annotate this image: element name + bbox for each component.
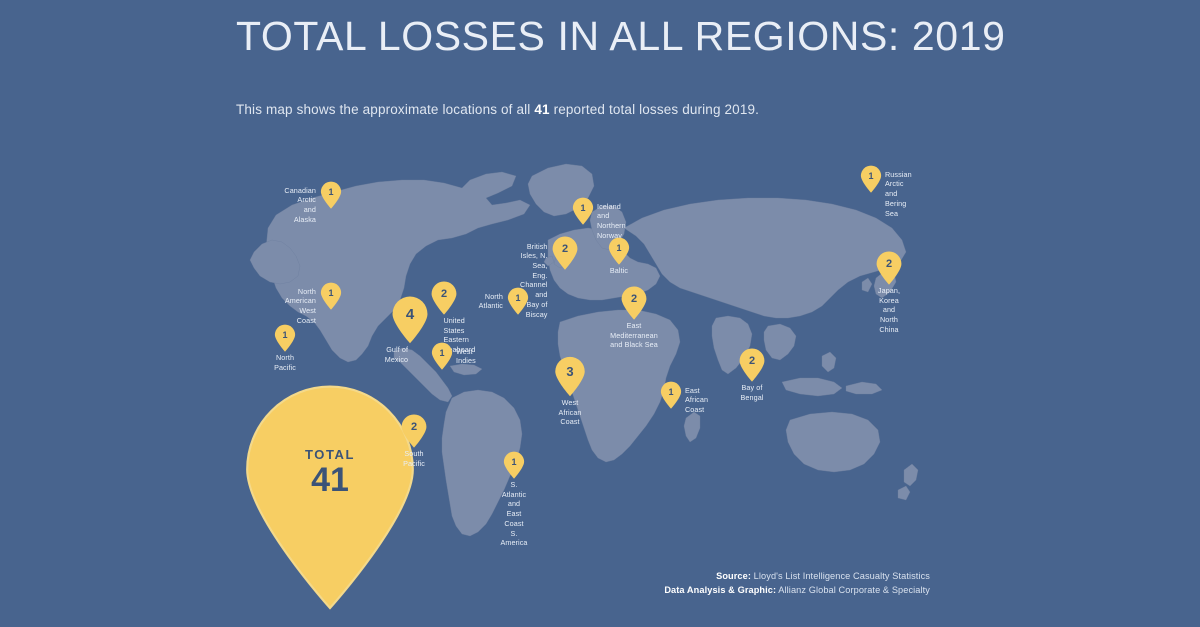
marker-canadian-arctic-and-alaska[interactable]: 1Canadian Arctic and Alaska <box>320 182 342 209</box>
page-title: Total Losses In All Regions: 2019 <box>236 14 996 58</box>
marker-label: Bay of Bengal <box>741 383 764 402</box>
marker-north-american-west-coast[interactable]: 1North American West Coast <box>320 283 342 310</box>
page-subtitle: This map shows the approximate locations… <box>236 102 996 117</box>
header: Total Losses In All Regions: 2019 This m… <box>236 14 996 117</box>
marker-gulf-of-mexico[interactable]: 4Gulf of Mexico <box>391 297 429 344</box>
marker-east-mediterranean-and-black-sea[interactable]: 2East Mediterranean and Black Sea <box>621 287 648 320</box>
subtitle-total-count: 41 <box>534 102 549 117</box>
pin-shape: 2 <box>431 282 458 315</box>
infographic-canvas: Total Losses In All Regions: 2019 This m… <box>0 0 1200 627</box>
pin-shape: 1 <box>503 452 525 479</box>
marker-british-isles-north-sea[interactable]: 2British Isles, N. Sea, Eng. Channel and… <box>552 237 579 270</box>
total-pin-shape <box>240 390 420 610</box>
pin-shape: 2 <box>552 237 579 270</box>
marker-label: East African Coast <box>685 386 708 415</box>
source-attribution: Source: Lloyd's List Intelligence Casual… <box>664 569 930 598</box>
marker-baltic[interactable]: 1Baltic <box>608 238 630 265</box>
pin-shape: 2 <box>621 287 648 320</box>
marker-west-indies[interactable]: 1West Indies <box>431 343 453 370</box>
pin-shape: 2 <box>401 415 428 448</box>
pin-shape: 2 <box>876 252 903 285</box>
marker-label: Gulf of Mexico <box>385 345 408 364</box>
subtitle-text-after: reported total losses during 2019. <box>550 102 759 117</box>
marker-label: Canadian Arctic and Alaska <box>284 186 316 225</box>
analysis-label: Data Analysis & Graphic: <box>664 585 776 595</box>
pin-shape: 1 <box>608 238 630 265</box>
source-label: Source: <box>716 571 751 581</box>
pin-shape: 1 <box>320 283 342 310</box>
pin-shape: 4 <box>391 297 429 344</box>
pin-shape: 1 <box>860 166 882 193</box>
pin-shape: 1 <box>572 198 594 225</box>
analysis-text: Allianz Global Corporate & Specialty <box>776 585 930 595</box>
analysis-line: Data Analysis & Graphic: Allianz Global … <box>664 583 930 597</box>
marker-label: British Isles, N. Sea, Eng. Channel and … <box>520 242 547 320</box>
marker-label: Russian Arctic and Bering Sea <box>885 170 912 219</box>
marker-label: S. Atlantic and East Coast S. America <box>500 480 527 548</box>
marker-north-pacific[interactable]: 1North Pacific <box>274 325 296 352</box>
marker-label: Japan, Korea and North China <box>878 286 900 335</box>
marker-label: North Atlantic <box>479 292 503 311</box>
pin-shape: 1 <box>274 325 296 352</box>
pin-shape: 1 <box>660 382 682 409</box>
total-losses-marker[interactable]: TOTAL 41 <box>240 390 420 610</box>
pin-shape: 3 <box>554 357 586 397</box>
source-line: Source: Lloyd's List Intelligence Casual… <box>664 569 930 583</box>
marker-west-african-coast[interactable]: 3West African Coast <box>554 357 586 397</box>
pin-shape: 1 <box>431 343 453 370</box>
marker-label: West African Coast <box>558 398 581 427</box>
marker-s-atlantic-and-east-coast-s-america[interactable]: 1S. Atlantic and East Coast S. America <box>503 452 525 479</box>
marker-east-african-coast[interactable]: 1East African Coast <box>660 382 682 409</box>
marker-label: South Pacific <box>403 449 425 468</box>
marker-south-pacific[interactable]: 2South Pacific <box>401 415 428 448</box>
subtitle-text-before: This map shows the approximate locations… <box>236 102 534 117</box>
marker-label: Iceland and Northern Norway <box>597 202 626 241</box>
marker-united-states-eastern-seaboard[interactable]: 2United States Eastern Seaboard <box>431 282 458 315</box>
marker-label: North American West Coast <box>285 287 316 326</box>
pin-shape: 1 <box>320 182 342 209</box>
marker-russian-arctic-and-bering-sea[interactable]: 1Russian Arctic and Bering Sea <box>860 166 882 193</box>
marker-japan-korea-and-north-china[interactable]: 2Japan, Korea and North China <box>876 252 903 285</box>
marker-label: Baltic <box>610 266 628 276</box>
marker-label: West Indies <box>456 347 476 366</box>
marker-label: North Pacific <box>274 353 296 372</box>
marker-iceland-and-northern-norway[interactable]: 1Iceland and Northern Norway <box>572 198 594 225</box>
source-text: Lloyd's List Intelligence Casualty Stati… <box>751 571 930 581</box>
pin-shape: 2 <box>739 349 766 382</box>
marker-label: East Mediterranean and Black Sea <box>610 321 658 350</box>
marker-bay-of-bengal[interactable]: 2Bay of Bengal <box>739 349 766 382</box>
